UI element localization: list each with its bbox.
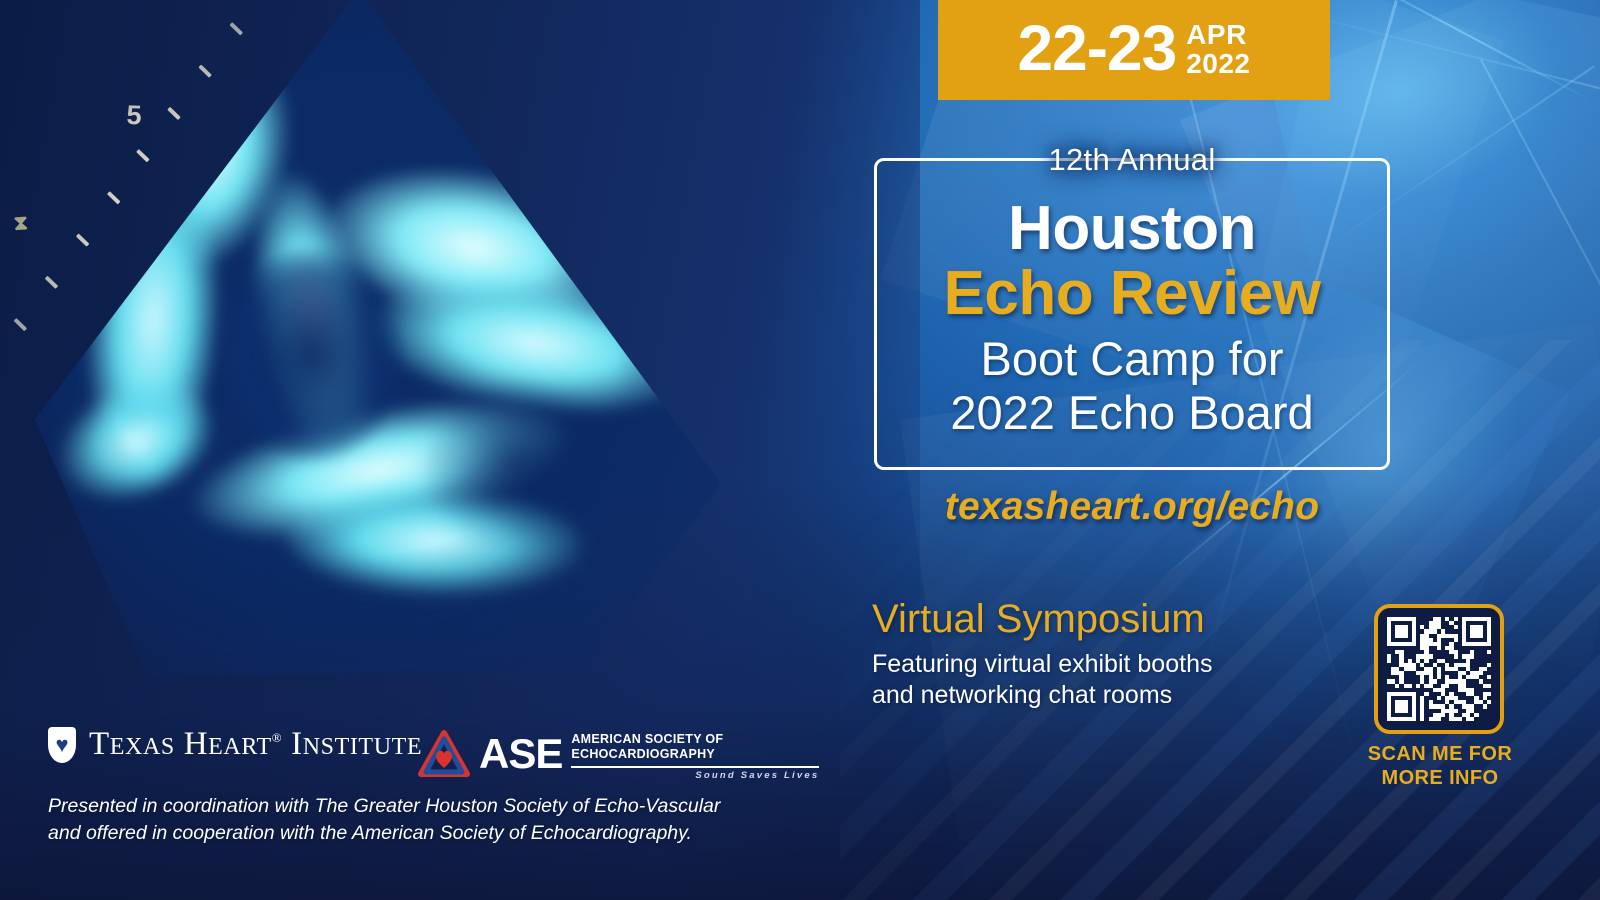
website-url[interactable]: texasheart.org/echo (874, 485, 1390, 529)
symposium-subtitle: Featuring virtual exhibit booths and net… (872, 649, 1292, 712)
depth-label: 5 (126, 100, 142, 132)
ultrasound-depth-scale: 5 ⧗ (0, 0, 399, 544)
eyebrow-12th-annual: 12th Annual (1032, 142, 1231, 178)
title-line-echo-board: 2022 Echo Board (950, 386, 1313, 440)
qr-caption: SCAN ME FOR MORE INFO (1334, 742, 1546, 790)
title-line-houston: Houston (1008, 197, 1256, 261)
qr-caption-line1: SCAN ME FOR (1334, 742, 1546, 766)
qr-caption-line2: MORE INFO (1334, 766, 1546, 790)
texas-heart-institute-logo: ♥ TEXAS HEART® INSTITUTE (48, 726, 422, 763)
disclaimer-text: Presented in coordination with The Great… (48, 793, 788, 847)
thi-nstitute: NSTITUTE (303, 734, 422, 760)
ase-name-line2: ECHOCARDIOGRAPHY (571, 747, 819, 762)
qr-code[interactable] (1374, 604, 1504, 734)
symposium-sub-line1: Featuring virtual exhibit booths (872, 649, 1292, 680)
thi-h: H (184, 726, 208, 762)
title-line-echo-review: Echo Review (944, 262, 1321, 326)
registered-mark: ® (272, 730, 282, 745)
disclaimer-line1: Presented in coordination with The Great… (48, 793, 788, 820)
date-year: 2022 (1186, 50, 1250, 79)
qr-code-modules (1387, 617, 1491, 721)
ase-triangle-heart-icon (418, 730, 470, 778)
date-month: APR (1186, 21, 1250, 50)
shield-icon: ♥ (48, 727, 76, 763)
shield-heart-glyph: ♥ (55, 734, 68, 756)
thi-i: I (291, 726, 303, 762)
symposium-title: Virtual Symposium (872, 597, 1292, 641)
ase-fullname: AMERICAN SOCIETY OF ECHOCARDIOGRAPHY Sou… (571, 728, 819, 781)
ase-logo: ASE AMERICAN SOCIETY OF ECHOCARDIOGRAPHY… (418, 728, 819, 781)
ase-divider (571, 766, 819, 768)
date-month-year: APR 2022 (1186, 18, 1250, 78)
disclaimer-line2: and offered in cooperation with the Amer… (48, 820, 788, 847)
thi-exas: EXAS (110, 734, 175, 760)
echocardiogram-image: 5 ⧗ (0, 0, 820, 750)
ase-tagline: Sound Saves Lives (571, 770, 819, 781)
date-badge: 22-23 APR 2022 (938, 0, 1330, 100)
ase-name-line1: AMERICAN SOCIETY OF (571, 732, 819, 747)
ase-acronym: ASE (479, 733, 562, 775)
thi-t: T (89, 726, 110, 762)
texas-heart-institute-wordmark: TEXAS HEART® INSTITUTE (89, 726, 422, 763)
date-days: 22-23 (1018, 16, 1177, 80)
symposium-sub-line2: and networking chat rooms (872, 680, 1292, 711)
caliper-marker: ⧗ (13, 212, 29, 236)
promotional-banner: 5 ⧗ 22-23 APR 2022 Houston Echo Review B… (0, 0, 1600, 900)
title-card: Houston Echo Review Boot Camp for 2022 E… (874, 168, 1390, 470)
title-line-boot-camp: Boot Camp for (980, 332, 1283, 386)
virtual-symposium-block: Virtual Symposium Featuring virtual exhi… (872, 597, 1292, 712)
thi-eart: EART (208, 734, 272, 760)
